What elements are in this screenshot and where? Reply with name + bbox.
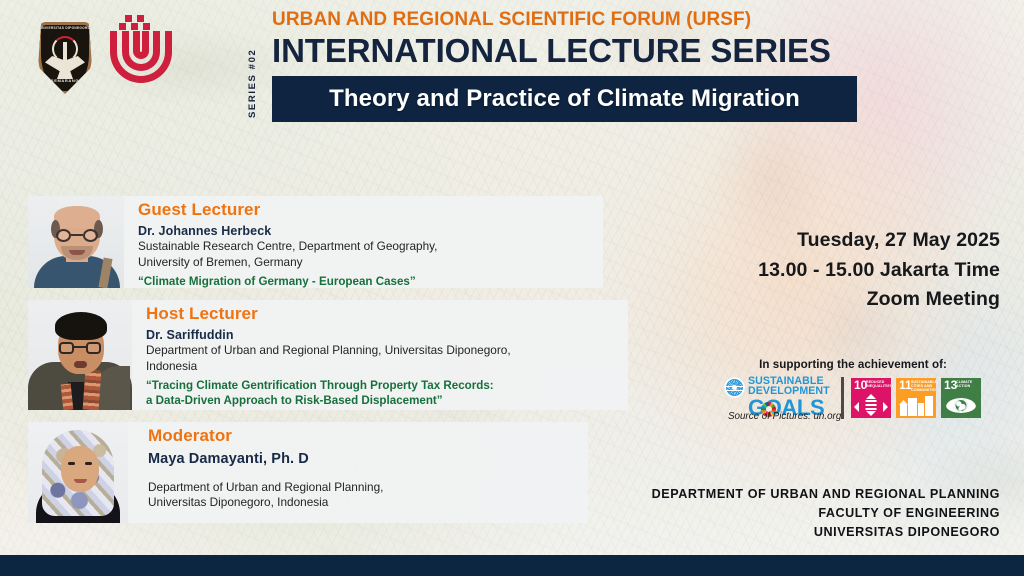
header-text-block: URBAN AND REGIONAL SCIENTIFIC FORUM (URS… bbox=[272, 10, 857, 122]
poster-header: UNIVERSITAS DIPONEGORO SEMARANG SERIES #… bbox=[0, 0, 1024, 146]
speaker-details: Host Lecturer Dr. Sariffuddin Department… bbox=[132, 300, 594, 410]
undip-crest-icon: UNIVERSITAS DIPONEGORO SEMARANG bbox=[38, 22, 92, 94]
sdg-support-block: In supporting the achievement of: SUSTAI… bbox=[714, 358, 1014, 421]
speaker-affiliation-line2: Universitas Diponegoro, Indonesia bbox=[148, 495, 383, 510]
speaker-affiliation-line1: Department of Urban and Regional Plannin… bbox=[148, 480, 383, 495]
speaker-name: Maya Damayanti, Ph. D bbox=[148, 451, 383, 467]
sdg-source-credit: Source of Pictures: un.org bbox=[728, 411, 841, 422]
speaker-topic-line1: “Tracing Climate Gentrification Through … bbox=[146, 379, 594, 394]
equality-arrows-icon bbox=[851, 394, 891, 416]
avatar bbox=[28, 422, 128, 523]
speaker-affiliation-line2: University of Bremen, Germany bbox=[138, 255, 437, 270]
sdg-wordmark: SUSTAINABLE DEVELOPMENT GOALS Source of … bbox=[724, 375, 834, 421]
page-title: INTERNATIONAL LECTURE SERIES bbox=[272, 33, 857, 70]
organizer-line-3: UNIVERSITAS DIPONEGORO bbox=[652, 523, 1000, 542]
undip-crest-top-text: UNIVERSITAS DIPONEGORO bbox=[38, 26, 92, 30]
sdg-lead-text: In supporting the achievement of: bbox=[714, 358, 992, 371]
sdg-divider bbox=[841, 377, 844, 419]
sdg-goal-title: CLIMATE ACTION bbox=[956, 380, 980, 388]
speaker-affiliation-line2: Indonesia bbox=[146, 359, 594, 374]
sdg-goal-title: REDUCED INEQUALITIES bbox=[866, 380, 890, 388]
organizer-line-2: FACULTY OF ENGINEERING bbox=[652, 504, 1000, 523]
speaker-topic-line2: a Data-Driven Approach to Risk-Based Dis… bbox=[146, 394, 594, 409]
sdg-goal-number: 11 bbox=[899, 379, 912, 391]
ursf-u-logo-icon bbox=[110, 23, 172, 93]
speaker-card-moderator: Moderator Maya Damayanti, Ph. D Departme… bbox=[28, 422, 588, 523]
organizer-line-1: DEPARTMENT OF URBAN AND REGIONAL PLANNIN… bbox=[652, 485, 1000, 504]
speaker-card-host-lecturer: Host Lecturer Dr. Sariffuddin Department… bbox=[28, 300, 628, 410]
schedule-platform: Zoom Meeting bbox=[758, 285, 1000, 315]
schedule-date: Tuesday, 27 May 2025 bbox=[758, 226, 1000, 256]
organizer-block: DEPARTMENT OF URBAN AND REGIONAL PLANNIN… bbox=[652, 485, 1000, 542]
speaker-card-guest-lecturer: Guest Lecturer Dr. Johannes Herbeck Sust… bbox=[28, 196, 603, 288]
avatar bbox=[28, 196, 124, 288]
topic-bar-label: Theory and Practice of Climate Migration bbox=[329, 85, 800, 113]
schedule-block: Tuesday, 27 May 2025 13.00 - 15.00 Jakar… bbox=[758, 226, 1000, 315]
sdg-logo-row: SUSTAINABLE DEVELOPMENT GOALS Source of … bbox=[724, 375, 1014, 421]
sdg-goal-tile-10: 10 REDUCED INEQUALITIES bbox=[851, 378, 891, 418]
avatar bbox=[28, 300, 132, 410]
schedule-time: 13.00 - 15.00 Jakarta Time bbox=[758, 256, 1000, 286]
speaker-affiliation-line1: Department of Urban and Regional Plannin… bbox=[146, 343, 594, 358]
topic-bar: Theory and Practice of Climate Migration bbox=[272, 76, 857, 122]
sdg-goal-title: SUSTAINABLE CITIES AND COMMUNITIES bbox=[911, 380, 935, 393]
un-emblem-icon bbox=[724, 377, 745, 398]
series-number-label: SERIES #02 bbox=[247, 49, 258, 118]
footer-bar bbox=[0, 555, 1024, 576]
forum-kicker: URBAN AND REGIONAL SCIENTIFIC FORUM (URS… bbox=[272, 10, 857, 31]
speaker-role: Host Lecturer bbox=[146, 305, 594, 324]
city-buildings-icon bbox=[896, 394, 936, 416]
sdg-goal-tile-11: 11 SUSTAINABLE CITIES AND COMMUNITIES bbox=[896, 378, 936, 418]
sdg-goal-tiles: 10 REDUCED INEQUALITIES 11 SUSTAINABLE C… bbox=[851, 378, 981, 418]
eye-globe-icon bbox=[941, 394, 981, 416]
speaker-details: Guest Lecturer Dr. Johannes Herbeck Sust… bbox=[124, 196, 437, 288]
speaker-role: Moderator bbox=[148, 427, 383, 446]
speaker-topic-line1: “Climate Migration of Germany - European… bbox=[138, 275, 437, 290]
speaker-name: Dr. Sariffuddin bbox=[146, 328, 594, 342]
sdg-goal-tile-13: 13 CLIMATE ACTION bbox=[941, 378, 981, 418]
speaker-role: Guest Lecturer bbox=[138, 201, 437, 220]
speaker-name: Dr. Johannes Herbeck bbox=[138, 224, 437, 238]
logo-group: UNIVERSITAS DIPONEGORO SEMARANG bbox=[38, 22, 172, 94]
speaker-details: Moderator Maya Damayanti, Ph. D Departme… bbox=[128, 422, 383, 523]
speaker-affiliation-line1: Sustainable Research Centre, Department … bbox=[138, 239, 437, 254]
undip-crest-bottom-text: SEMARANG bbox=[38, 78, 92, 83]
